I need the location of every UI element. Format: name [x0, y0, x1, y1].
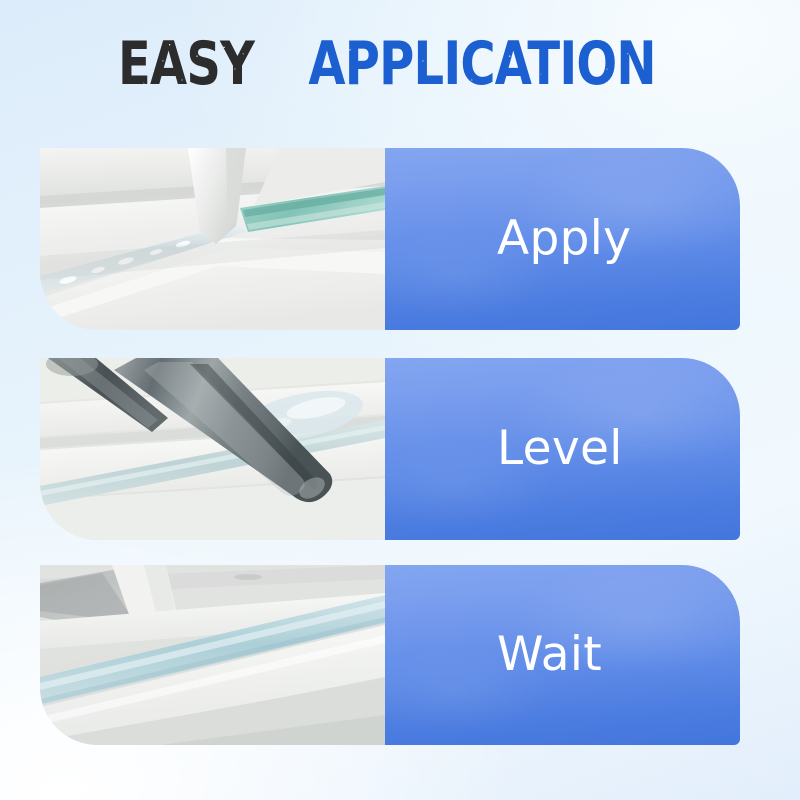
- step-label-level: Level: [385, 424, 623, 474]
- step-label-apply: Apply: [385, 214, 631, 264]
- step-panel-level: Level: [385, 358, 740, 540]
- step-photo-apply: [40, 148, 385, 330]
- title-word-easy: EASY: [118, 32, 254, 96]
- title-word-easy-text: EASY: [118, 32, 254, 96]
- title-word-application-text: APPLICATION: [308, 32, 655, 96]
- step-photo-wait: [40, 565, 385, 745]
- title-word-application: APPLICATION: [308, 32, 655, 96]
- step-photo-level: [40, 358, 385, 540]
- step-panel-apply: Apply: [385, 148, 740, 330]
- finished-caulk-line-curing-image: [40, 565, 385, 745]
- step-card-wait: Wait: [40, 565, 740, 745]
- metal-tool-smoothing-caulk-line-image: [40, 358, 385, 540]
- page-title: EASY APPLICATION: [0, 32, 800, 96]
- step-label-wait: Wait: [385, 630, 602, 680]
- step-card-apply: Apply: [40, 148, 740, 330]
- easy-application-infographic: EASY APPLICATION: [0, 0, 800, 800]
- step-card-level: Level: [40, 358, 740, 540]
- caulk-bead-being-applied-to-tile-gap-image: [40, 148, 385, 330]
- step-panel-wait: Wait: [385, 565, 740, 745]
